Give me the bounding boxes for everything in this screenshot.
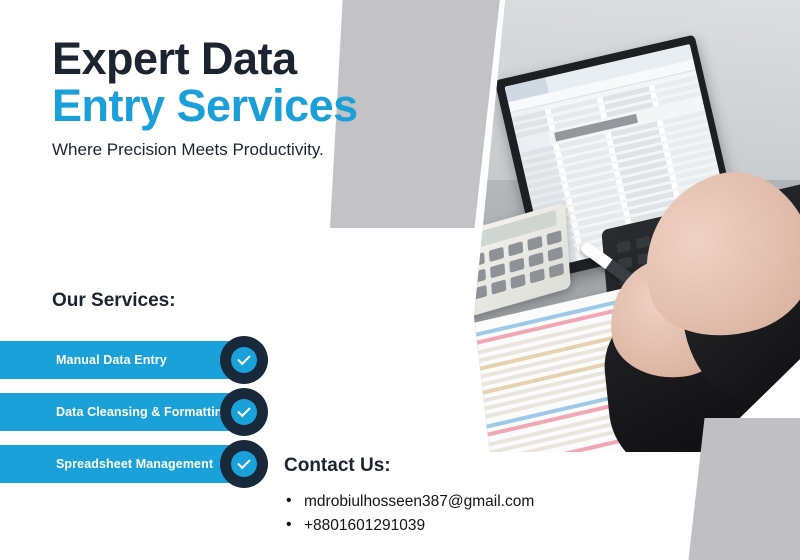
contact-block: Contact Us: mdrobiulhosseen387@gmail.com… <box>284 455 534 538</box>
check-icon <box>237 456 250 469</box>
services-heading: Our Services: <box>52 290 176 312</box>
headline-block: Expert Data Entry Services Where Precisi… <box>52 36 452 160</box>
service-item-manual-data-entry[interactable]: Manual Data Entry <box>0 341 268 379</box>
check-circle-icon <box>231 399 257 425</box>
poster-canvas: Expert Data Entry Services Where Precisi… <box>0 0 800 560</box>
contact-phone[interactable]: +8801601291039 <box>284 514 534 538</box>
page-title-line2: Entry Services <box>52 82 452 131</box>
hero-photo <box>455 0 800 452</box>
contact-list: mdrobiulhosseen387@gmail.com +8801601291… <box>284 490 534 538</box>
service-bar: Data Cleansing & Formatting <box>0 393 240 431</box>
check-icon <box>237 404 250 417</box>
check-badge <box>220 336 268 384</box>
check-circle-icon <box>231 347 257 373</box>
service-label: Manual Data Entry <box>0 353 167 367</box>
check-badge <box>220 440 268 488</box>
service-bar: Spreadsheet Management <box>0 445 240 483</box>
check-badge <box>220 388 268 436</box>
page-title-line1: Expert Data <box>52 36 452 82</box>
service-label: Data Cleansing & Formatting <box>0 405 230 419</box>
check-circle-icon <box>231 451 257 477</box>
gray-parallelogram-bottom <box>688 418 800 560</box>
page-subtitle: Where Precision Meets Productivity. <box>52 140 452 160</box>
contact-email[interactable]: mdrobiulhosseen387@gmail.com <box>284 490 534 514</box>
check-icon <box>237 352 250 365</box>
service-label: Spreadsheet Management <box>0 457 213 471</box>
service-item-data-cleansing-formatting[interactable]: Data Cleansing & Formatting <box>0 393 268 431</box>
contact-heading: Contact Us: <box>284 455 534 477</box>
service-bar: Manual Data Entry <box>0 341 240 379</box>
service-item-spreadsheet-management[interactable]: Spreadsheet Management <box>0 445 268 483</box>
